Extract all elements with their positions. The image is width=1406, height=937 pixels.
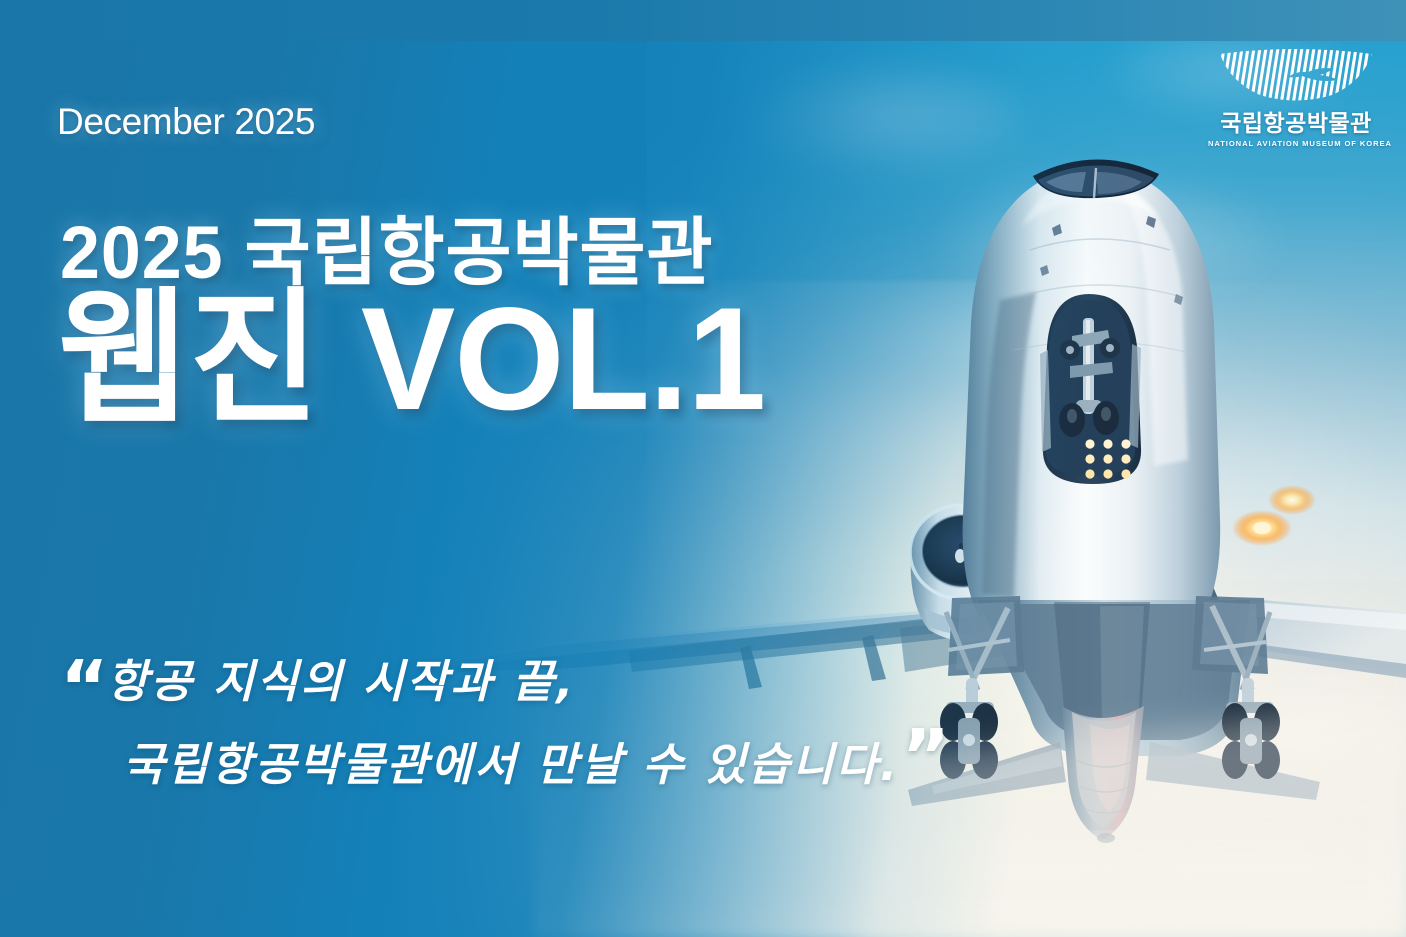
aviation-museum-wing-mark [1212, 48, 1380, 104]
tagline-quote: “항공 지식의 시작과 끝, 국립항공박물관에서 만날 수 있습니다.” [60, 645, 948, 793]
quote-close-icon: ” [902, 714, 949, 800]
background-top-band [0, 0, 1406, 41]
logo-english-name: NATIONAL AVIATION MUSEUM OF KOREA [1208, 139, 1384, 148]
headline-ko: 웹진 [58, 277, 321, 440]
tagline-line-1: 항공 지식의 시작과 끝, [107, 655, 576, 708]
museum-logo: 국립항공박물관 NATIONAL AVIATION MUSEUM OF KORE… [1208, 48, 1384, 148]
issue-date-label: December 2025 [57, 101, 315, 143]
headline-volume: VOL.1 [361, 277, 765, 440]
tagline-line-2: 국립항공박물관에서 만날 수 있습니다. [123, 738, 900, 791]
tagline-row-1: “항공 지식의 시작과 끝, [60, 645, 948, 710]
headline-line-2: 웹진 VOL.1 [58, 286, 765, 432]
logo-korean-name: 국립항공박물관 [1208, 112, 1384, 135]
webzine-cover-poster: 국립항공박물관 NATIONAL AVIATION MUSEUM OF KORE… [0, 0, 1406, 937]
tagline-row-2: 국립항공박물관에서 만날 수 있습니다.” [60, 728, 948, 793]
quote-open-icon: “ [60, 645, 107, 731]
